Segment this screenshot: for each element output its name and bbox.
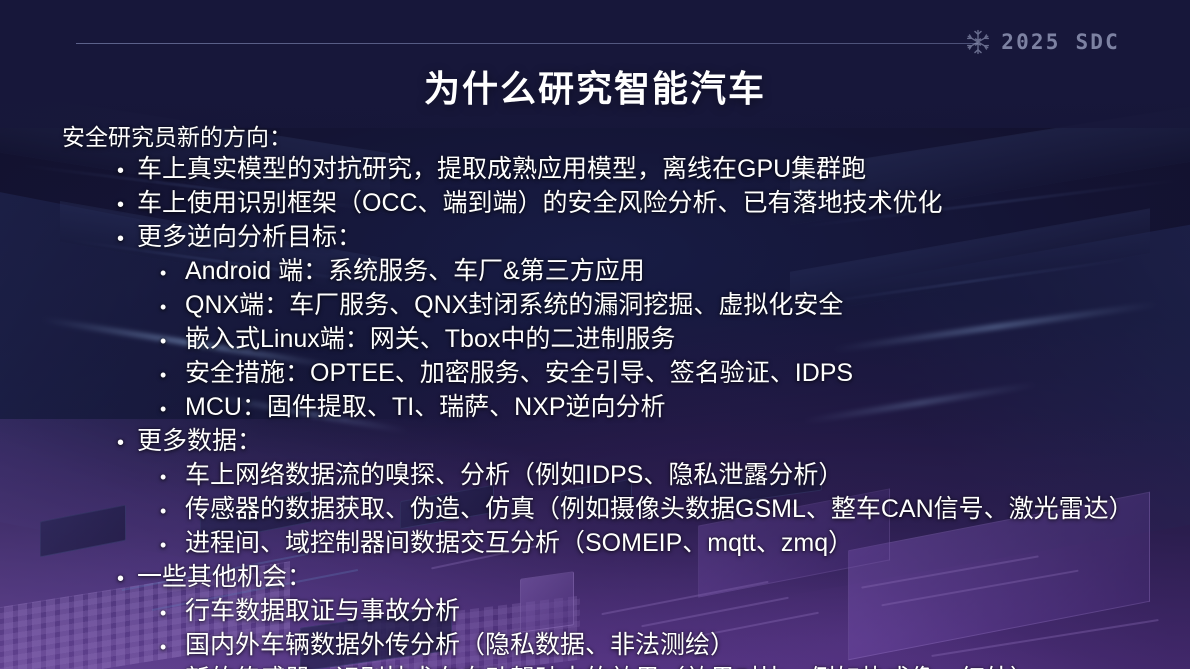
presentation-slide: 2025 SDC 为什么研究智能汽车 安全研究员新的方向：•车上真实模型的对抗研…	[0, 0, 1190, 669]
bullet-row-level-3: •车上网络数据流的嗅探、分析（例如IDPS、隐私泄露分析）	[0, 463, 1190, 497]
bullet-marker: •	[160, 332, 185, 350]
bullet-row-level-3: •进程间、域控制器间数据交互分析（SOMEIP、mqtt、zmq）	[0, 531, 1190, 565]
bullet-text: 安全研究员新的方向：	[62, 126, 292, 149]
bullet-row-level-2: •车上使用识别框架（OCC、端到端）的安全风险分析、已有落地技术优化	[0, 191, 1190, 225]
bullet-text: 嵌入式Linux端：网关、Tbox中的二进制服务	[185, 327, 675, 352]
brand-text: 2025 SDC	[1001, 30, 1120, 54]
bullet-row-level-3: •QNX端：车厂服务、QNX封闭系统的漏洞挖掘、虚拟化安全	[0, 293, 1190, 327]
bullet-text: Android 端：系统服务、车厂&第三方应用	[185, 259, 645, 284]
slide-title: 为什么研究智能汽车	[0, 60, 1190, 112]
bullet-marker: •	[160, 638, 185, 656]
bullet-text: MCU：固件提取、TI、瑞萨、NXP逆向分析	[185, 395, 666, 420]
bullet-text: 安全措施：OPTEE、加密服务、安全引导、签名验证、IDPS	[185, 361, 853, 386]
bullet-row-level-3: •嵌入式Linux端：网关、Tbox中的二进制服务	[0, 327, 1190, 361]
bullet-text: 进程间、域控制器间数据交互分析（SOMEIP、mqtt、zmq）	[185, 531, 853, 556]
bullet-marker: •	[160, 468, 185, 486]
bullet-row-level-2: •一些其他机会：	[0, 565, 1190, 599]
snowflake-icon	[965, 29, 991, 55]
bullet-text: 车上真实模型的对抗研究，提取成熟应用模型，离线在GPU集群跑	[137, 157, 866, 182]
bullet-text: QNX端：车厂服务、QNX封闭系统的漏洞挖掘、虚拟化安全	[185, 293, 843, 318]
bullet-marker: •	[160, 502, 185, 520]
bullet-marker: •	[117, 195, 137, 215]
bullet-row-level-3: •传感器的数据获取、伪造、仿真（例如摄像头数据GSML、整车CAN信号、激光雷达…	[0, 497, 1190, 531]
bullet-text: 车上网络数据流的嗅探、分析（例如IDPS、隐私泄露分析）	[185, 463, 843, 488]
bullet-text: 行车数据取证与事故分析	[185, 599, 460, 624]
bullet-text: 一些其他机会：	[137, 565, 312, 590]
bullet-marker: •	[160, 366, 185, 384]
bullet-row-level-3: •MCU：固件提取、TI、瑞萨、NXP逆向分析	[0, 395, 1190, 429]
bullet-marker: •	[160, 604, 185, 622]
bullet-marker: •	[160, 536, 185, 554]
bullet-text: 更多数据：	[137, 429, 262, 454]
bullet-text: 传感器的数据获取、伪造、仿真（例如摄像头数据GSML、整车CAN信号、激光雷达）	[185, 497, 1134, 522]
bullet-row-level-2: •更多逆向分析目标：	[0, 225, 1190, 259]
bullet-marker: •	[160, 264, 185, 282]
bullet-row-level-1: 安全研究员新的方向：	[0, 126, 1190, 157]
bullet-row-level-2: •车上真实模型的对抗研究，提取成熟应用模型，离线在GPU集群跑	[0, 157, 1190, 191]
bullet-marker: •	[117, 161, 137, 181]
bullet-marker: •	[160, 400, 185, 418]
brand-logo: 2025 SDC	[965, 29, 1120, 55]
bullet-row-level-3: •安全措施：OPTEE、加密服务、安全引导、签名验证、IDPS	[0, 361, 1190, 395]
bullet-text: 车上使用识别框架（OCC、端到端）的安全风险分析、已有落地技术优化	[137, 191, 943, 216]
header-divider	[76, 43, 978, 44]
bullet-marker: •	[117, 569, 137, 589]
slide-body-content: 安全研究员新的方向：•车上真实模型的对抗研究，提取成熟应用模型，离线在GPU集群…	[0, 126, 1190, 669]
bullet-row-level-3: •行车数据取证与事故分析	[0, 599, 1190, 633]
bullet-row-level-2: •更多数据：	[0, 429, 1190, 463]
bullet-row-level-3: •国内外车辆数据外传分析（隐私数据、非法测绘）	[0, 633, 1190, 667]
bullet-marker: •	[117, 229, 137, 249]
bullet-text: 国内外车辆数据外传分析（隐私数据、非法测绘）	[185, 633, 735, 658]
bullet-marker: •	[117, 433, 137, 453]
bullet-marker: •	[160, 298, 185, 316]
bullet-text: 更多逆向分析目标：	[137, 225, 362, 250]
bullet-row-level-3: •Android 端：系统服务、车厂&第三方应用	[0, 259, 1190, 293]
